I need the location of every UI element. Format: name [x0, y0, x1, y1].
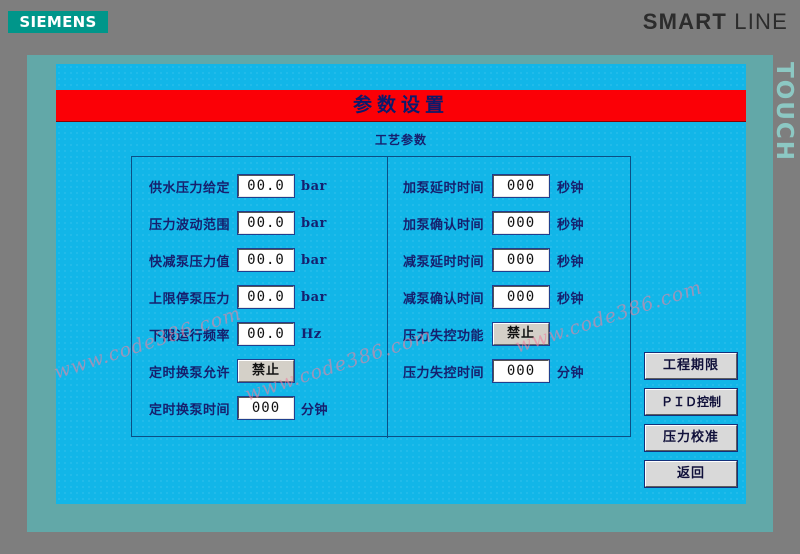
product-line-line: LINE: [734, 9, 788, 34]
parameter-unit-label: 秒钟: [557, 214, 584, 233]
page-title: 参数设置: [56, 90, 746, 121]
parameter-label: 定时换泵时间: [132, 399, 230, 418]
parameter-label: 压力失控功能: [388, 325, 484, 344]
parameter-label: 定时换泵允许: [132, 362, 230, 381]
parameter-label: 加泵确认时间: [388, 214, 484, 233]
parameter-row: 压力波动范围00.0bar: [132, 210, 387, 236]
parameter-row: 快减泵压力值00.0bar: [132, 247, 387, 273]
parameter-row: 定时换泵时间000分钟: [132, 395, 387, 421]
hmi-device: SIEMENS SMART LINE TOUCH 参数设置 工艺参数 供水压力给…: [0, 0, 800, 554]
parameter-toggle-button[interactable]: 禁止: [493, 323, 549, 345]
parameter-unit-label: 分钟: [301, 399, 328, 418]
parameter-label: 快减泵压力值: [132, 251, 230, 270]
parameter-row: 定时换泵允许禁止: [132, 358, 387, 384]
parameter-label: 减泵确认时间: [388, 288, 484, 307]
parameter-label: 压力失控时间: [388, 362, 484, 381]
siemens-logo: SIEMENS: [8, 11, 108, 33]
section-subtitle: 工艺参数: [56, 131, 746, 148]
parameter-unit-label: bar: [301, 216, 327, 231]
parameter-value-field[interactable]: 000: [238, 397, 294, 419]
side-button-1[interactable]: 工程期限: [645, 353, 737, 379]
parameter-value-field[interactable]: 00.0: [238, 286, 294, 308]
side-button-2[interactable]: ＰＩＤ控制: [645, 389, 737, 415]
parameter-value-field[interactable]: 000: [493, 249, 549, 271]
side-action-buttons: 工程期限ＰＩＤ控制压力校准返回: [645, 353, 737, 497]
parameter-unit-label: bar: [301, 290, 327, 305]
parameter-unit-label: bar: [301, 179, 327, 194]
parameter-value-field[interactable]: 000: [493, 212, 549, 234]
parameter-label: 减泵延时时间: [388, 251, 484, 270]
page-title-banner: 参数设置: [56, 90, 746, 122]
parameter-label: 加泵延时时间: [388, 177, 484, 196]
parameter-label: 上限停泵压力: [132, 288, 230, 307]
parameter-value-field[interactable]: 000: [493, 360, 549, 382]
product-line-smart: SMART: [643, 9, 727, 34]
parameter-row: 上限停泵压力00.0bar: [132, 284, 387, 310]
parameter-row: 减泵确认时间000秒钟: [388, 284, 632, 310]
parameter-unit-label: bar: [301, 253, 327, 268]
touch-brand-label: TOUCH: [771, 62, 797, 182]
parameter-unit-label: 秒钟: [557, 288, 584, 307]
side-button-4[interactable]: 返回: [645, 461, 737, 487]
parameter-unit-label: 分钟: [557, 362, 584, 381]
parameter-row: 减泵延时时间000秒钟: [388, 247, 632, 273]
parameter-label: 下限运行频率: [132, 325, 230, 344]
parameter-value-field[interactable]: 00.0: [238, 212, 294, 234]
side-button-3[interactable]: 压力校准: [645, 425, 737, 451]
parameter-row: 加泵确认时间000秒钟: [388, 210, 632, 236]
parameter-value-field[interactable]: 00.0: [238, 323, 294, 345]
parameter-label: 压力波动范围: [132, 214, 230, 233]
parameter-toggle-button[interactable]: 禁止: [238, 360, 294, 382]
parameter-row: 压力失控功能禁止: [388, 321, 632, 347]
hmi-screen: 参数设置 工艺参数 供水压力给定00.0bar压力波动范围00.0bar快减泵压…: [56, 64, 746, 504]
parameter-value-field[interactable]: 000: [493, 175, 549, 197]
parameter-group-box: 供水压力给定00.0bar压力波动范围00.0bar快减泵压力值00.0bar上…: [131, 156, 631, 437]
parameter-value-field[interactable]: 000: [493, 286, 549, 308]
parameter-row: 下限运行频率00.0Hz: [132, 321, 387, 347]
product-line-label: SMART LINE: [643, 9, 788, 35]
parameter-unit-label: 秒钟: [557, 177, 584, 196]
parameter-row: 加泵延时时间000秒钟: [388, 173, 632, 199]
parameter-unit-label: Hz: [301, 327, 322, 342]
parameter-unit-label: 秒钟: [557, 251, 584, 270]
parameter-label: 供水压力给定: [132, 177, 230, 196]
parameter-value-field[interactable]: 00.0: [238, 249, 294, 271]
brand-header: SIEMENS SMART LINE: [0, 0, 800, 46]
parameter-value-field[interactable]: 00.0: [238, 175, 294, 197]
parameter-row: 供水压力给定00.0bar: [132, 173, 387, 199]
parameter-row: 压力失控时间000分钟: [388, 358, 632, 384]
